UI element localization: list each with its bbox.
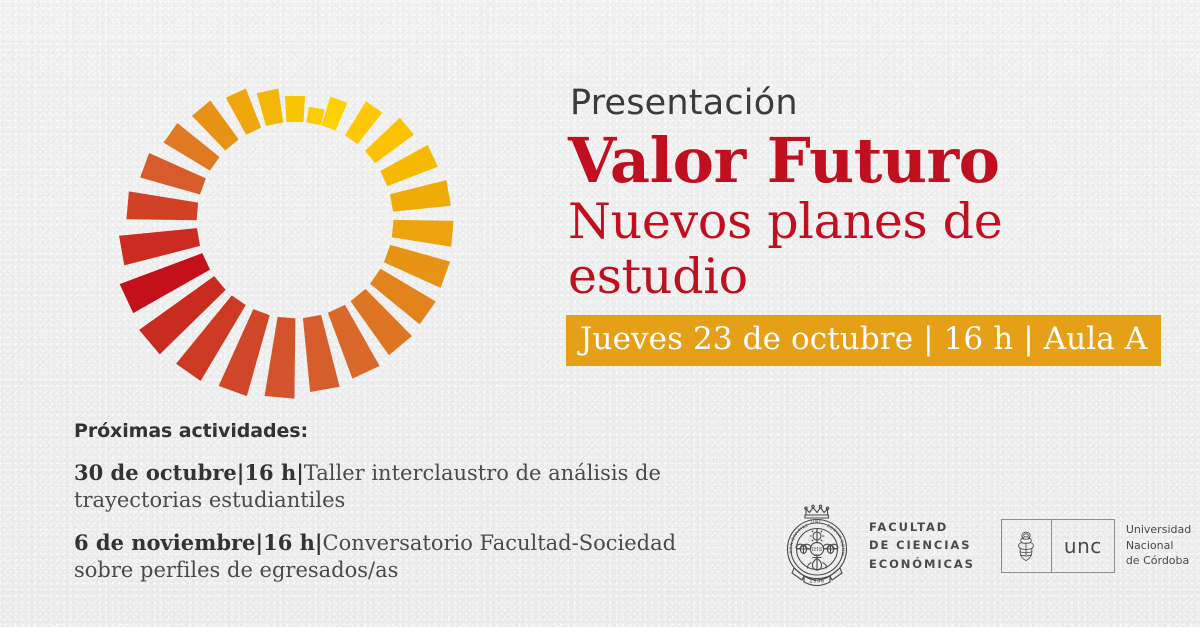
sunburst-logo xyxy=(95,20,495,420)
sunburst-rays xyxy=(95,20,495,420)
unc-wordmark: unc xyxy=(1064,534,1102,558)
faculty-line-3: ECONÓMICAS xyxy=(869,555,975,574)
sunburst-ray-11 xyxy=(265,317,296,399)
crest-monogram: IHS xyxy=(812,546,823,552)
faculty-line-2: DE CIENCIAS xyxy=(869,536,975,555)
sunburst-ray-21 xyxy=(226,88,261,134)
sunburst-ray-1 xyxy=(345,101,382,144)
faculty-logo: 1946 UNC IHS NON DIVITIAE SED BONUM COMM… xyxy=(778,502,975,590)
unc-shield-icon xyxy=(1013,529,1039,563)
unc-logo-box: unc xyxy=(1001,519,1115,573)
university-logo: unc Universidad Nacional de Córdoba xyxy=(1001,519,1191,573)
page-title: Valor Futuro xyxy=(568,128,1166,194)
university-line-3: de Córdoba xyxy=(1126,553,1191,569)
activity-separator: | xyxy=(315,530,323,555)
upcoming-heading: Próximas actividades: xyxy=(74,420,694,442)
activity-time: 16 h xyxy=(244,460,296,485)
activity-date: 6 de noviembre xyxy=(74,530,255,555)
event-date-badge: Jueves 23 de octubre | 16 h | Aula A xyxy=(566,315,1161,366)
activity-time: 16 h xyxy=(263,530,315,555)
crest-unc-label: UNC xyxy=(811,519,823,525)
sunburst-ray-23 xyxy=(285,96,305,122)
sunburst-ray-5 xyxy=(392,220,454,247)
university-line-2: Nacional xyxy=(1126,538,1191,554)
activity-separator: | xyxy=(255,530,263,555)
unc-shield-cell xyxy=(1002,520,1052,572)
headline-block: Presentación Valor Futuro Nuevos planes … xyxy=(566,85,1166,366)
upcoming-activities: Próximas actividades: 30 de octubre|16 h… xyxy=(74,420,694,600)
page-subtitle: Nuevos planes de estudio xyxy=(568,195,1166,305)
faculty-name: FACULTAD DE CIENCIAS ECONÓMICAS xyxy=(869,518,975,574)
unc-wordmark-cell: unc xyxy=(1052,520,1114,572)
list-item: 30 de octubre|16 h|Taller interclaustro … xyxy=(74,460,694,514)
crest-year-label: 1946 xyxy=(809,578,825,584)
poster-canvas: Presentación Valor Futuro Nuevos planes … xyxy=(0,0,1200,627)
sunburst-ray-22 xyxy=(257,89,283,126)
list-item: 6 de noviembre|16 h|Conversatorio Facult… xyxy=(74,530,694,584)
logo-row: 1946 UNC IHS NON DIVITIAE SED BONUM COMM… xyxy=(778,498,1178,593)
fce-crest-icon: 1946 UNC IHS NON DIVITIAE SED BONUM COMM… xyxy=(778,502,856,590)
university-name: Universidad Nacional de Córdoba xyxy=(1126,522,1191,569)
activity-separator: | xyxy=(296,460,304,485)
faculty-line-1: FACULTAD xyxy=(869,518,975,537)
sunburst-ray-4 xyxy=(390,180,451,212)
activity-date: 30 de octubre xyxy=(74,460,237,485)
university-line-1: Universidad xyxy=(1126,522,1191,538)
sunburst-ray-17 xyxy=(126,191,198,220)
sunburst-ray-24 xyxy=(306,107,324,126)
eyebrow-presentacion: Presentación xyxy=(570,85,1166,122)
